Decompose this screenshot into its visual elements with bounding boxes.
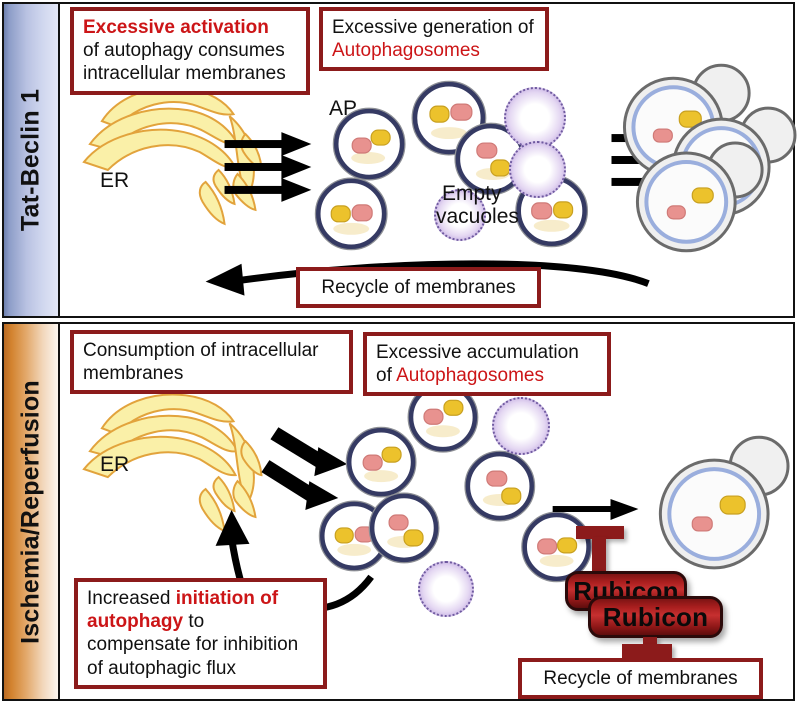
autophagosome bbox=[318, 181, 384, 247]
callout-line-2-highlight: Autophagosomes bbox=[396, 365, 544, 386]
arrow-right-3 bbox=[225, 178, 312, 202]
sidebar-ischemia-reperfusion: Ischemia/Reperfusion bbox=[4, 324, 60, 699]
autophagosome bbox=[322, 504, 386, 568]
callout-line-2: membranes bbox=[83, 362, 340, 385]
autolysosome-group-top bbox=[624, 65, 795, 250]
callout-line-2: of autophagy consumes bbox=[83, 39, 297, 62]
ap-label-top: AP bbox=[329, 98, 357, 120]
callout-line-1: Recycle of membranes bbox=[309, 276, 528, 299]
panel-ischemia-reperfusion: Ischemia/Reperfusion bbox=[2, 322, 795, 701]
inhibition-bar-bottom-crossbar bbox=[622, 644, 672, 658]
arrow-right-2 bbox=[611, 148, 690, 172]
er-structure bbox=[84, 87, 262, 223]
autophagosome bbox=[372, 496, 436, 560]
callout-seg-4: to bbox=[183, 611, 204, 632]
callout-line-1: Excessive activation bbox=[83, 16, 297, 39]
callout-line-2: of Autophagosomes bbox=[376, 364, 598, 387]
panel-top-canvas: ER AP Empty vacuoles Excessive activatio… bbox=[60, 4, 793, 316]
er-label-bottom: ER bbox=[100, 454, 129, 476]
autolysosome-group-bottom bbox=[660, 437, 788, 568]
callout-line-1: Consumption of intracellular bbox=[83, 339, 340, 362]
empty-vacuoles-label-line2: vacuoles bbox=[436, 206, 519, 228]
empty-vacuole bbox=[509, 141, 566, 198]
callout-consumption-of-membranes[interactable]: Consumption of intracellular membranes bbox=[70, 330, 353, 394]
autophagosome-group-bottom bbox=[322, 385, 588, 578]
figure-root: Tat-Beclin 1 bbox=[0, 0, 797, 703]
callout-line-3: compensate for inhibition bbox=[87, 633, 314, 656]
callout-line-1: Recycle of membranes bbox=[531, 667, 750, 690]
arrow-group-er-to-autophagosome bbox=[225, 132, 312, 202]
callout-line-2-prefix: of bbox=[376, 365, 396, 386]
callout-increased-initiation[interactable]: Increased initiation of autophagy to com… bbox=[74, 578, 327, 689]
empty-vacuoles-label-line1: Empty bbox=[442, 183, 502, 205]
callout-line-3: intracellular membranes bbox=[83, 62, 297, 85]
callout-line-1: Excessive generation of bbox=[332, 16, 536, 39]
autolysosome bbox=[624, 65, 749, 176]
callout-seg-1: Increased bbox=[87, 588, 176, 609]
empty-vacuole bbox=[504, 87, 566, 149]
er-label-top: ER bbox=[100, 170, 129, 192]
autolysosome bbox=[637, 143, 762, 251]
rubicon-badge-2[interactable]: Rubicon bbox=[588, 596, 723, 638]
arrow-group-ap-to-autolysosome bbox=[611, 126, 690, 194]
sidebar-label-ischemia-reperfusion: Ischemia/Reperfusion bbox=[17, 380, 46, 644]
arrow-ap-to-autolysosome bbox=[553, 499, 639, 520]
arrow-right-1 bbox=[611, 126, 690, 150]
empty-vacuole bbox=[492, 397, 550, 455]
autophagosome bbox=[415, 84, 483, 152]
sidebar-label-tat-beclin-1: Tat-Beclin 1 bbox=[17, 89, 46, 231]
callout-excessive-generation[interactable]: Excessive generation of Autophagosomes bbox=[319, 7, 549, 71]
callout-seg-2: initiation of bbox=[176, 588, 278, 609]
arrow-right-2 bbox=[225, 155, 312, 179]
inhibition-bar-top-stem bbox=[592, 537, 606, 572]
callout-excessive-accumulation[interactable]: Excessive accumulation of Autophagosomes bbox=[363, 332, 611, 396]
callout-seg-3: autophagy bbox=[87, 611, 183, 632]
callout-line-2: Autophagosomes bbox=[332, 39, 536, 62]
callout-recycle-of-membranes-top[interactable]: Recycle of membranes bbox=[296, 267, 541, 308]
autophagosome bbox=[525, 515, 589, 579]
arrow-right-3 bbox=[611, 170, 690, 194]
sidebar-tat-beclin-1: Tat-Beclin 1 bbox=[4, 4, 60, 316]
autolysosome bbox=[660, 437, 788, 568]
panel-tat-beclin-1: Tat-Beclin 1 bbox=[2, 2, 795, 318]
arrow-right-1 bbox=[225, 132, 312, 156]
callout-line-1: Increased initiation of bbox=[87, 587, 314, 610]
autophagosome bbox=[349, 430, 413, 494]
empty-vacuole bbox=[418, 561, 474, 617]
callout-line-4: of autophagic flux bbox=[87, 657, 314, 680]
callout-excessive-activation[interactable]: Excessive activation of autophagy consum… bbox=[70, 7, 310, 95]
callout-recycle-of-membranes-bottom[interactable]: Recycle of membranes bbox=[518, 658, 763, 699]
autophagosome bbox=[336, 111, 402, 177]
autolysosome bbox=[673, 108, 795, 215]
callout-line-1: Excessive accumulation bbox=[376, 341, 598, 364]
panel-bottom-canvas: ER Rubicon Rubicon Consumption of intrac… bbox=[60, 324, 793, 699]
autophagosome bbox=[468, 454, 532, 518]
callout-line-2: autophagy to bbox=[87, 610, 314, 633]
